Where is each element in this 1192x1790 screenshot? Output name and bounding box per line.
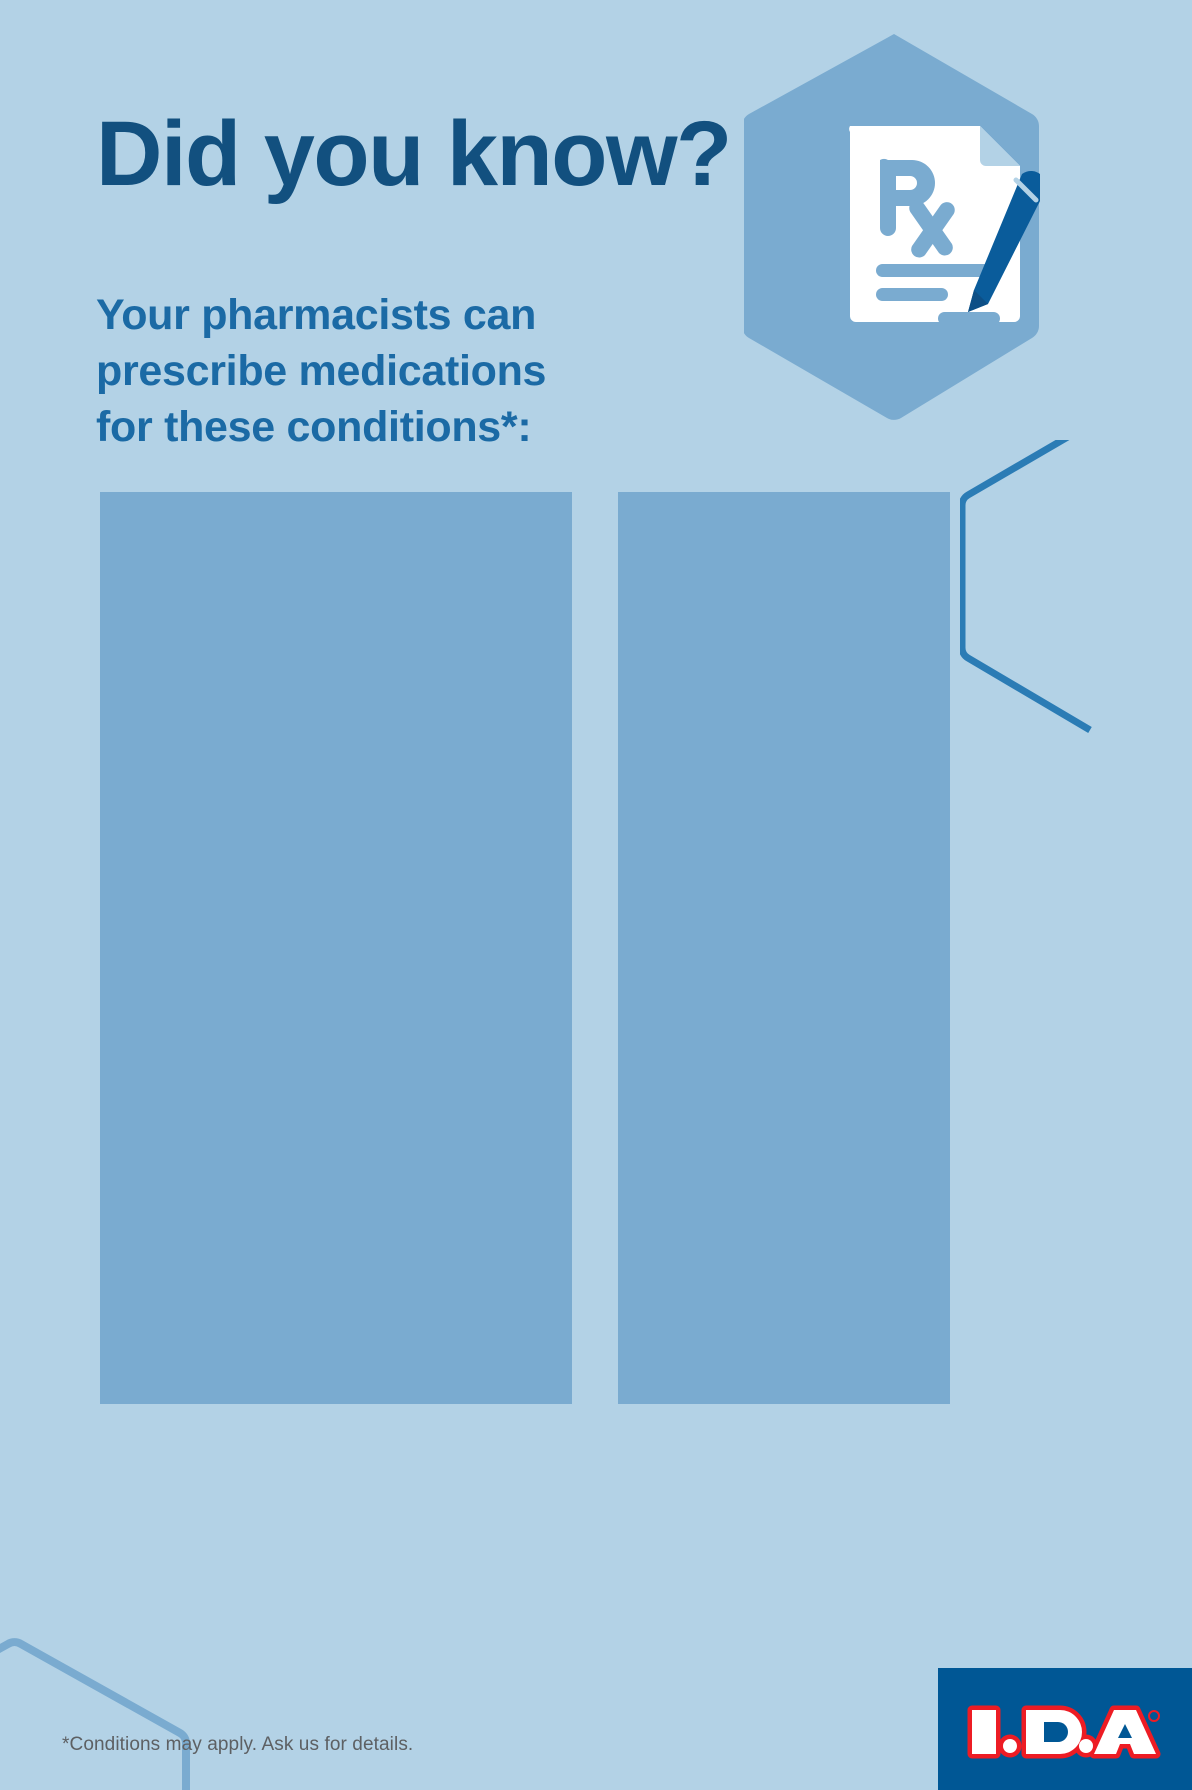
conditions-panel-left [100,492,572,1404]
footnote-text: *Conditions may apply. Ask us for detail… [62,1734,413,1756]
subtitle-line-3: for these conditions*: [96,400,546,456]
page-subtitle: Your pharmacists can prescribe medicatio… [96,288,546,456]
page-title: Did you know? [96,108,731,200]
conditions-panel-right [618,492,950,1404]
right-hexagon-outline [960,440,1192,740]
subtitle-line-2: prescribe medications [96,344,546,400]
ida-logo [964,1702,1164,1762]
rx-prescription-document-icon [840,118,1040,330]
hero-hexagon [744,28,1044,424]
bottom-left-hexagon-outline [0,1632,320,1790]
ida-logo-block [938,1668,1192,1790]
poster-canvas: Did you know? Your pharmacists can presc… [0,0,1192,1790]
subtitle-line-1: Your pharmacists can [96,288,546,344]
